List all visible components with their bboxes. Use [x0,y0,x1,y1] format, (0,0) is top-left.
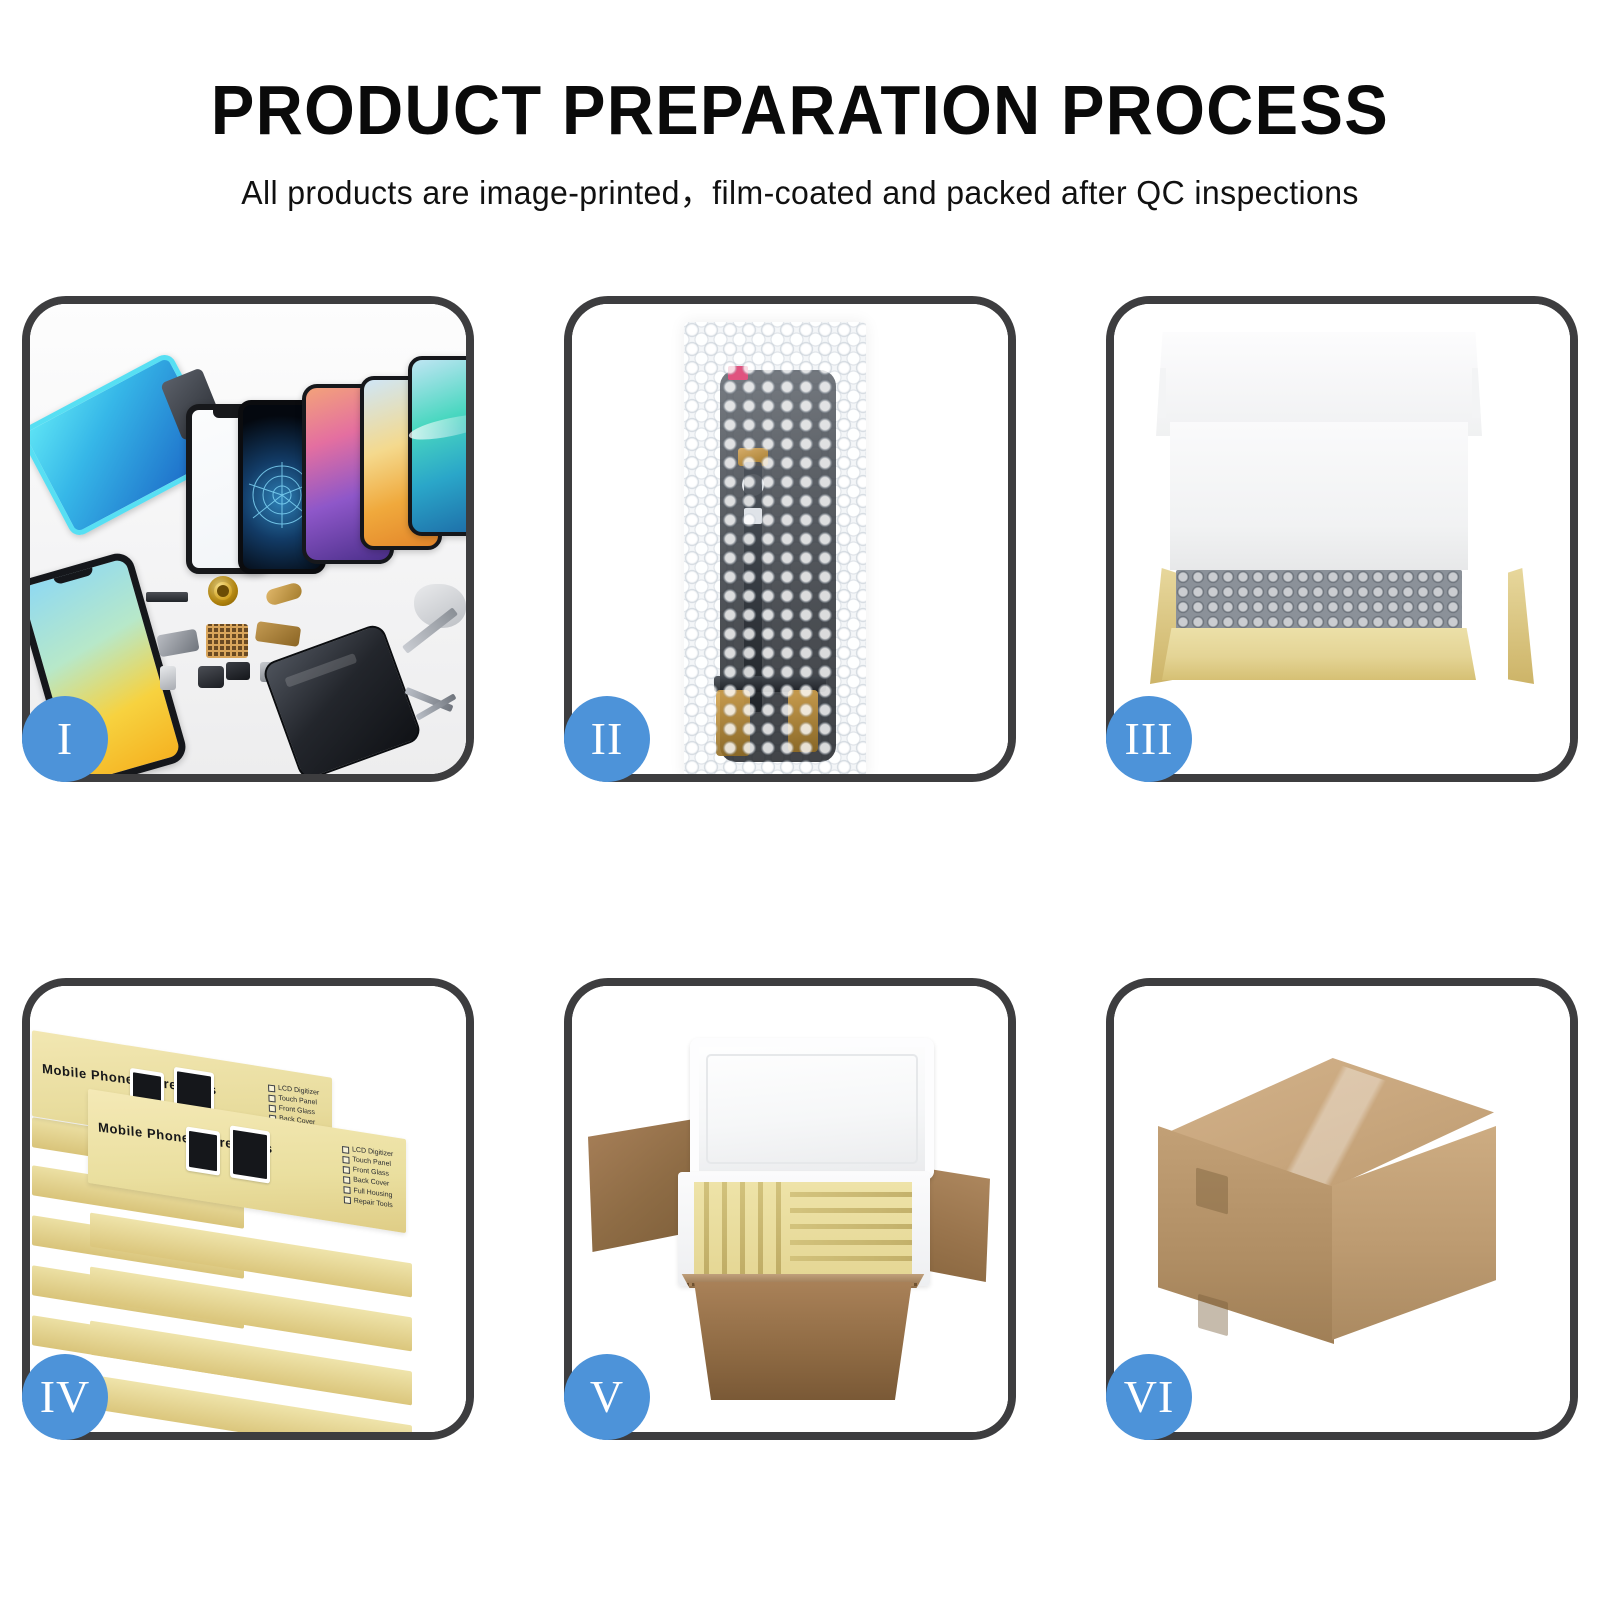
checkbox-icon [342,1145,349,1153]
part-gold-coil [208,576,238,606]
checkbox-icon [343,1176,350,1184]
part-chip-grid [206,624,248,658]
checkbox-icon [268,1094,275,1102]
step-badge-5: V [564,1354,650,1440]
foam-box-lid [690,1038,934,1180]
process-step-grid: I II [0,0,1600,1600]
retail-box-phone-image-1 [186,1126,220,1175]
bubble-wrap-scene [572,304,1008,774]
box-side-right [1508,568,1534,684]
process-step-4[interactable]: Mobile Phone Spare Parts LCD Digitizer T… [22,978,474,1440]
process-step-2[interactable]: II [564,296,1016,782]
step-2-image [572,304,1008,774]
carton-handle-cutout-bottom [1198,1294,1228,1337]
phone-parts-collage [30,304,466,774]
retail-boxes-inside-foam [694,1182,912,1274]
part-connector-bar [146,592,188,602]
box-front-panel [1162,628,1476,680]
step-badge-3: III [1106,696,1192,782]
process-step-5[interactable]: V [564,978,1016,1440]
bubble-wrap-bag [684,322,866,774]
step-badge-1: I [22,696,108,782]
open-mailer-box-scene [1114,304,1570,774]
part-camera-module [226,662,250,680]
part-sim-tray [160,666,176,690]
checkbox-icon [268,1104,275,1112]
step-6-image [1114,986,1570,1432]
part-flex-cable-b [255,621,301,647]
process-step-6[interactable]: VI [1106,978,1578,1440]
carton-with-foam-box-scene [572,986,1008,1432]
step-5-image [572,986,1008,1432]
process-step-3[interactable]: III [1106,296,1578,782]
stacked-retail-boxes-scene: Mobile Phone Spare Parts LCD Digitizer T… [30,986,466,1432]
checkbox-icon [342,1156,349,1164]
step-4-image: Mobile Phone Spare Parts LCD Digitizer T… [30,986,466,1432]
checkbox-icon [342,1166,349,1174]
gold-flex-right [788,690,818,752]
retail-box-checklist: LCD Digitizer Touch Panel Front Glass Ba… [342,1144,395,1211]
foam-liner-sheet [1170,422,1468,570]
bubble-wrap-inside-box [1176,570,1462,632]
step-badge-2: II [564,696,650,782]
part-flex-cable-c [264,581,303,606]
retail-box-phone-image-2 [230,1125,270,1183]
checkbox-icon [344,1196,351,1204]
gold-flex-left [716,690,750,756]
flex-cable-strip [744,462,762,712]
checkbox-icon [343,1186,350,1194]
checkbox-icon [268,1084,275,1092]
square-component [744,508,762,524]
step-badge-6: VI [1106,1354,1192,1440]
teal-phone-image [408,356,466,536]
process-step-1[interactable]: I [22,296,474,782]
box-lid-flap [1156,332,1482,436]
carton-front-face [682,1282,924,1400]
part-speaker-module [198,666,224,688]
pink-label-sticker [728,366,748,380]
step-3-image [1114,304,1570,774]
part-flex-cable-a [156,629,199,658]
sealed-carton-scene [1114,986,1570,1432]
step-1-image [30,304,466,774]
step-badge-4: IV [22,1354,108,1440]
